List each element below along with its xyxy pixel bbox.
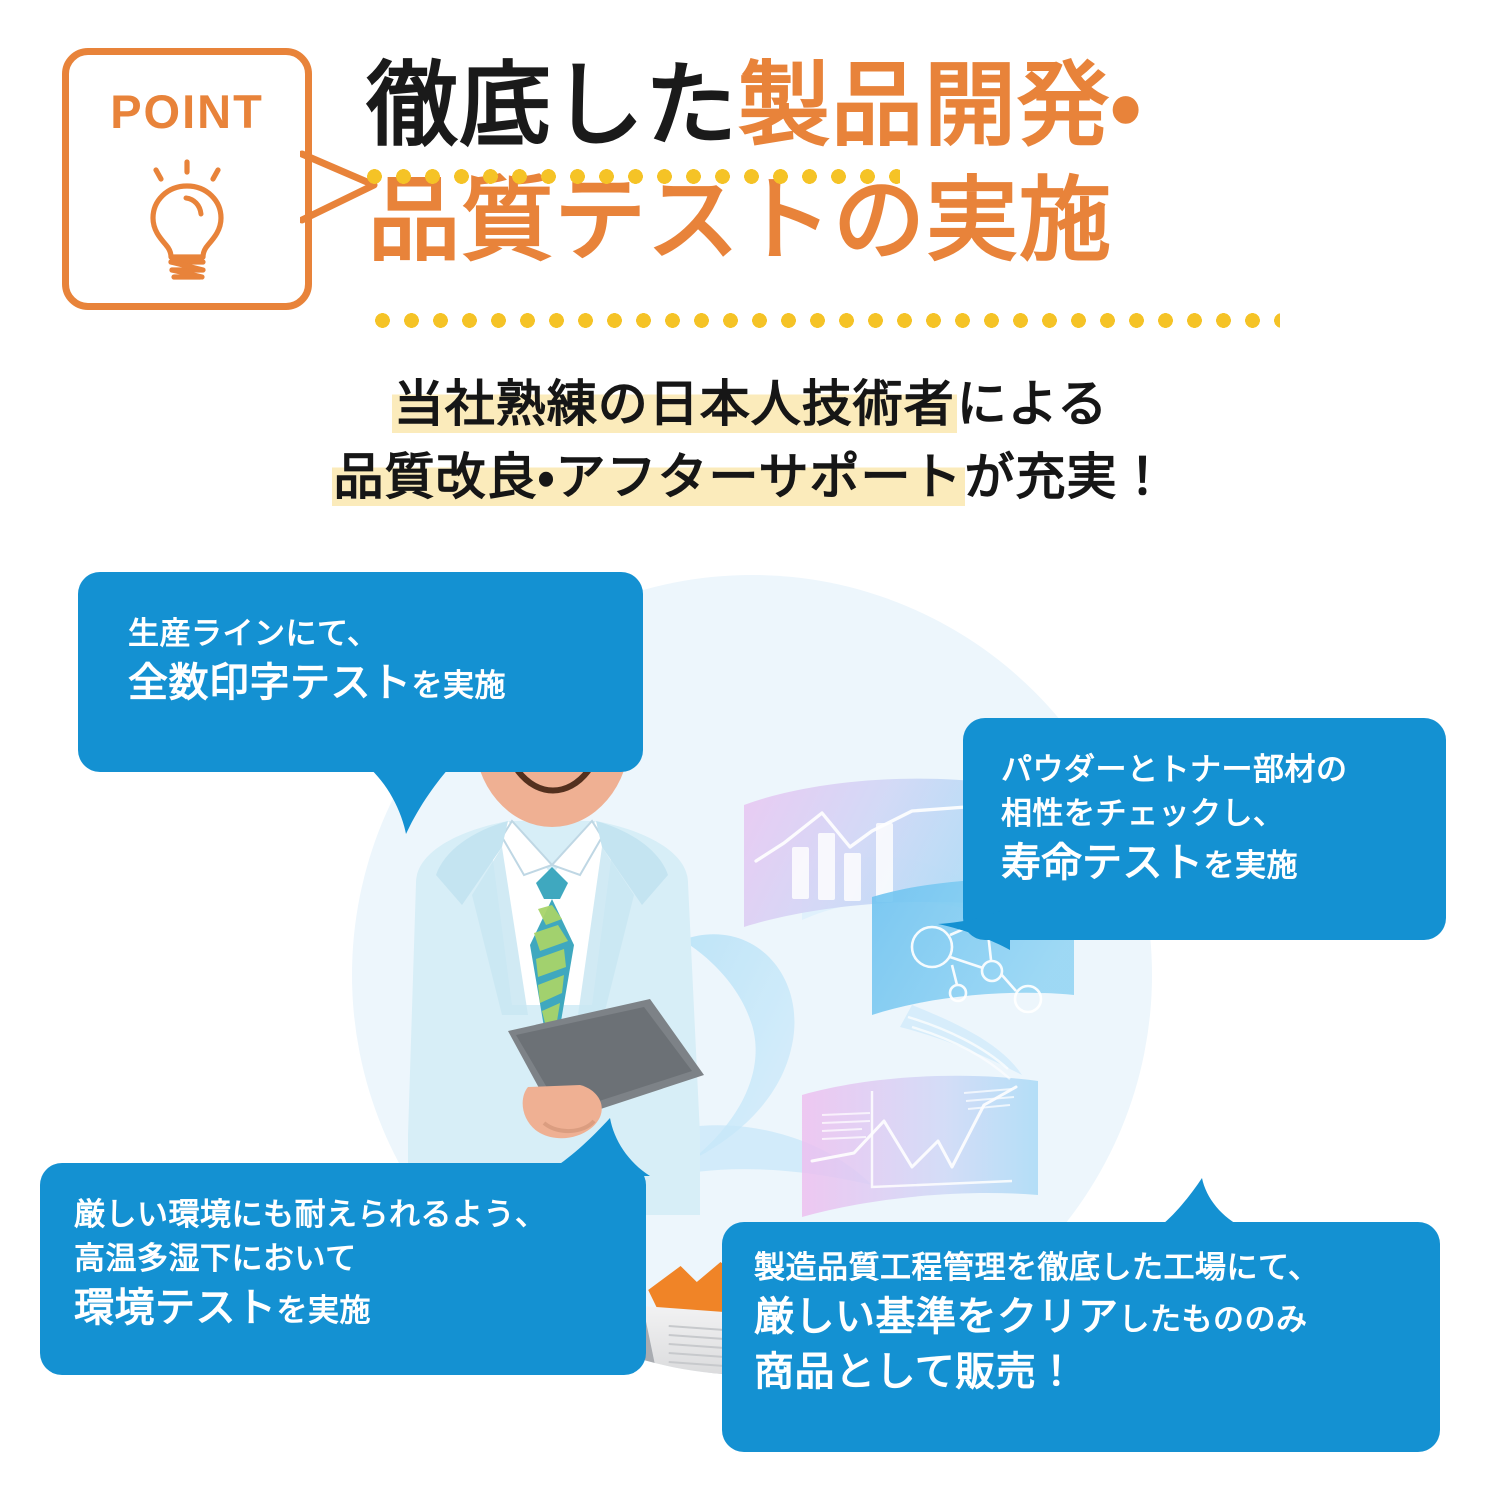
headline-dotted-underline-2	[368, 312, 1280, 329]
lightbulb-icon	[127, 156, 247, 286]
subtitle-line-1-highlight: 当社熟練の日本人技術者	[392, 375, 957, 433]
bubble-quality-control-line-2-bold: 厳しい基準をクリア	[754, 1294, 1119, 1340]
bubble-life-test-line-1: パウダーとトナー部材の	[1001, 748, 1446, 792]
bubble-print-test[interactable]: 生産ラインにて、 全数印字テストを実施	[78, 572, 643, 772]
bubble-life-test-line-3-rest: を実施	[1204, 848, 1299, 884]
bubble-quality-control[interactable]: 製造品質工程管理を徹底した工場にて、 厳しい基準をクリアしたもののみ 商品として…	[722, 1222, 1440, 1452]
subtitle-row-2: 品質改良・アフターサポートが充実！	[0, 441, 1500, 514]
bubble-quality-control-line-2-rest: したもののみ	[1119, 1302, 1308, 1338]
headline-line-1-orange: 製品開発・	[738, 52, 1142, 159]
bubble-environment-test[interactable]: 厳しい環境にも耐えられるよう、 高温多湿下において 環境テストを実施	[40, 1163, 646, 1375]
bubble-quality-control-line-1: 製造品質工程管理を徹底した工場にて、	[754, 1246, 1440, 1290]
headline-dotted-underline-1	[360, 168, 900, 185]
bubble-life-test-line-3-bold: 寿命テスト	[1001, 840, 1204, 886]
subtitle: 当社熟練の日本人技術者による 品質改良・アフターサポートが充実！	[0, 368, 1500, 513]
bubble-print-test-line-1: 生産ラインにて、	[128, 612, 643, 656]
bubble-environment-test-tail	[540, 1118, 650, 1178]
bubble-quality-control-line-3: 商品として販売！	[754, 1345, 1440, 1400]
bubble-life-test-line-2: 相性をチェックし、	[1001, 792, 1446, 836]
bubble-print-test-line-2: 全数印字テストを実施	[128, 656, 643, 711]
line-chart-panel	[802, 1076, 1038, 1217]
subtitle-line-2-rest: が充実！	[965, 448, 1169, 506]
bubble-environment-test-line-3-rest: を実施	[277, 1293, 372, 1329]
subtitle-line-1-rest: による	[957, 375, 1109, 433]
subtitle-row-1: 当社熟練の日本人技術者による	[0, 368, 1500, 441]
headline: 徹底した製品開発・ 品質テストの実施	[352, 52, 1352, 275]
point-badge: POINT	[62, 48, 312, 310]
bubble-life-test-tail	[938, 906, 1010, 966]
bubble-life-test[interactable]: パウダーとトナー部材の 相性をチェックし、 寿命テストを実施	[963, 718, 1446, 940]
bubble-print-test-line-2-bold: 全数印字テスト	[128, 660, 412, 706]
bubble-life-test-line-3: 寿命テストを実施	[1001, 836, 1446, 891]
bubble-environment-test-line-3: 環境テストを実施	[74, 1281, 646, 1336]
subtitle-line-2-highlight: 品質改良・アフターサポート	[332, 448, 965, 506]
bubble-print-test-line-2-rest: を実施	[412, 668, 507, 704]
point-label: POINT	[62, 84, 312, 139]
subtitle-line-1: 当社熟練の日本人技術者による	[392, 368, 1109, 441]
infographic-page: POINT 徹底した製品開発・ 品質テストの実施 当社熟練の日本人技術者による	[0, 0, 1500, 1500]
bubble-quality-control-tail	[1148, 1178, 1244, 1230]
bubble-environment-test-line-1: 厳しい環境にも耐えられるよう、	[74, 1193, 646, 1237]
bubble-quality-control-line-2: 厳しい基準をクリアしたもののみ	[754, 1290, 1440, 1345]
headline-line-1-black: 徹底した	[366, 52, 738, 159]
bubble-environment-test-line-3-bold: 環境テスト	[74, 1285, 277, 1331]
bubble-print-test-tail	[360, 760, 480, 842]
headline-line-1: 徹底した製品開発・	[352, 52, 1352, 161]
subtitle-line-2: 品質改良・アフターサポートが充実！	[332, 441, 1169, 514]
bubble-environment-test-line-2: 高温多湿下において	[74, 1237, 646, 1281]
